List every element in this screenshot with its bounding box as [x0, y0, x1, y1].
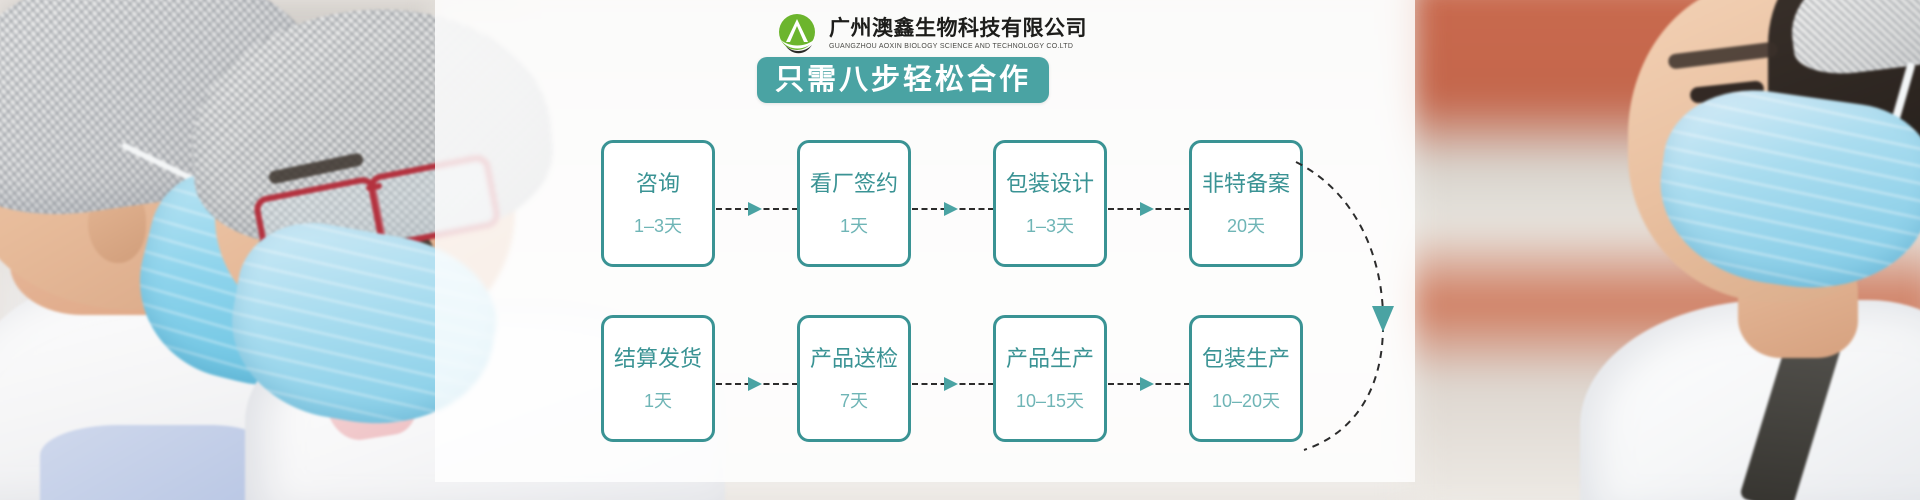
dashed-arrow-right-icon — [716, 202, 798, 216]
process-step-duration: 1天 — [644, 392, 672, 410]
process-step-duration: 20天 — [1227, 217, 1265, 235]
process-step-duration: 10–15天 — [1016, 392, 1084, 410]
process-step-duration: 1天 — [840, 217, 868, 235]
process-step-label: 包装设计 — [1006, 173, 1094, 195]
process-step-duration: 1–3天 — [634, 217, 682, 235]
dashed-arrow-right-icon — [912, 202, 994, 216]
process-step-5[interactable]: 包装生产 10–20天 — [1189, 315, 1303, 442]
mountain-leaf-logo-icon — [775, 12, 819, 56]
dashed-arrow-right-icon — [912, 377, 994, 391]
company-name-en: GUANGZHOU AOXIN BIOLOGY SCIENCE AND TECH… — [829, 43, 1087, 51]
company-name-cn: 广州澳鑫生物科技有限公司 — [829, 17, 1087, 41]
process-step-2[interactable]: 看厂签约 1天 — [797, 140, 911, 267]
process-step-label: 产品生产 — [1006, 348, 1094, 370]
section-title-text: 只需八步轻松合作 — [775, 66, 1031, 95]
process-step-8[interactable]: 结算发货 1天 — [601, 315, 715, 442]
process-step-label: 咨询 — [636, 173, 680, 195]
process-step-label: 包装生产 — [1202, 348, 1290, 370]
connector-arrowhead — [944, 202, 958, 216]
section-title-pill: 只需八步轻松合作 — [757, 57, 1049, 103]
process-step-1[interactable]: 咨询 1–3天 — [601, 140, 715, 267]
company-name-block: 广州澳鑫生物科技有限公司 GUANGZHOU AOXIN BIOLOGY SCI… — [829, 17, 1087, 51]
process-flow: 咨询 1–3天 看厂签约 1天 包装设计 1–3天 — [601, 140, 1301, 442]
process-step-label: 非特备案 — [1202, 173, 1290, 195]
dashed-arrow-right-icon — [1108, 202, 1190, 216]
process-step-label: 产品送检 — [810, 348, 898, 370]
process-step-4[interactable]: 非特备案 20天 — [1189, 140, 1303, 267]
dashed-arrow-right-icon — [1108, 377, 1190, 391]
connector-arrowhead — [944, 377, 958, 391]
dashed-arrow-right-icon — [716, 377, 798, 391]
connector-arrowhead — [748, 377, 762, 391]
connector-arrowhead — [1140, 202, 1154, 216]
process-flow-row-1: 咨询 1–3天 看厂签约 1天 包装设计 1–3天 — [601, 140, 1301, 267]
process-step-6[interactable]: 产品生产 10–15天 — [993, 315, 1107, 442]
connector-arrowhead — [748, 202, 762, 216]
company-logo: 广州澳鑫生物科技有限公司 GUANGZHOU AOXIN BIOLOGY SCI… — [775, 12, 1087, 56]
process-step-duration: 1–3天 — [1026, 217, 1074, 235]
process-step-7[interactable]: 产品送检 7天 — [797, 315, 911, 442]
banner-stage: 广州澳鑫生物科技有限公司 GUANGZHOU AOXIN BIOLOGY SCI… — [0, 0, 1920, 500]
process-step-duration: 10–20天 — [1212, 392, 1280, 410]
process-step-3[interactable]: 包装设计 1–3天 — [993, 140, 1107, 267]
process-step-label: 看厂签约 — [810, 173, 898, 195]
worker-a-sleeve — [40, 425, 270, 500]
process-step-duration: 7天 — [840, 392, 868, 410]
process-step-label: 结算发货 — [614, 348, 702, 370]
connector-arrowhead — [1140, 377, 1154, 391]
process-flow-row-2: 结算发货 1天 产品送检 7天 产品生产 10–15天 — [601, 315, 1301, 442]
